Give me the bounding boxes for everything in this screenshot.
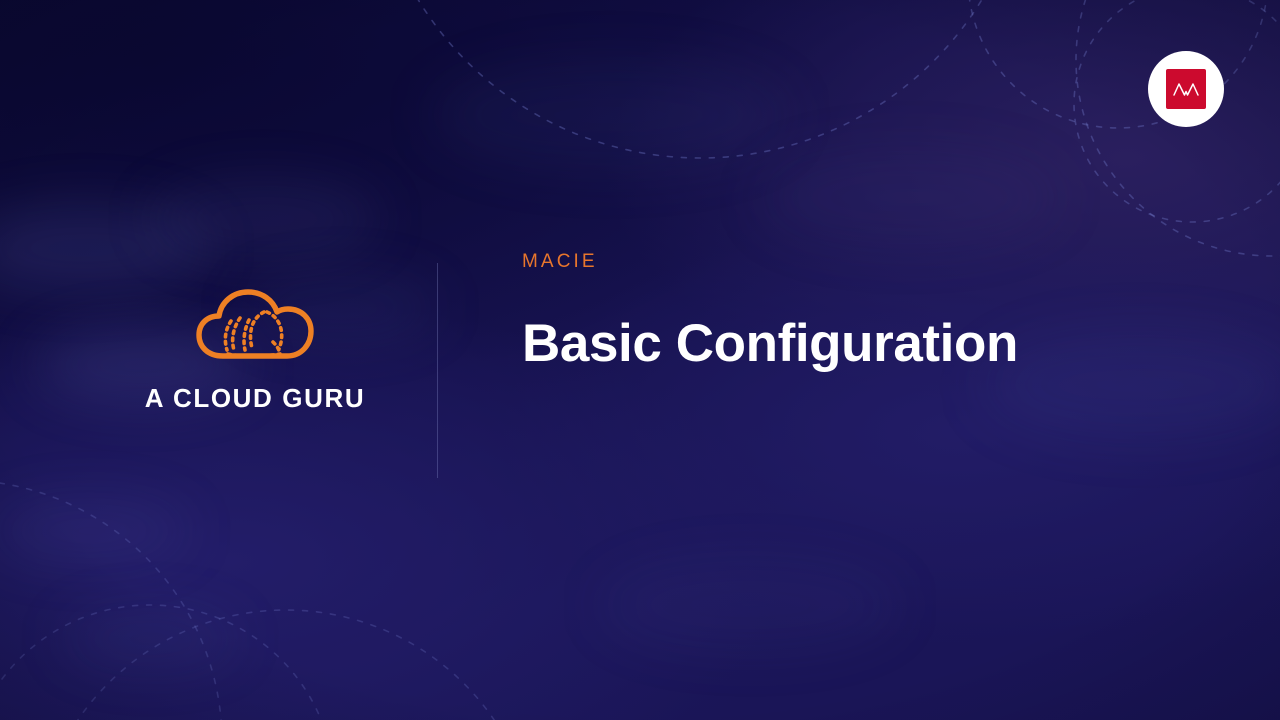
brand-block: A CLOUD GURU — [120, 286, 390, 411]
cloud-outline-icon — [195, 286, 315, 364]
acg-badge-square — [1166, 69, 1206, 109]
acg-badge — [1148, 51, 1224, 127]
vertical-divider — [437, 263, 438, 478]
acg-mountain-mark-icon — [1173, 81, 1199, 97]
course-eyebrow-label: MACIE — [522, 252, 1162, 271]
brand-name: A CLOUD GURU — [120, 385, 390, 411]
title-slide: A CLOUD GURU MACIE Basic Configuration — [0, 0, 1280, 720]
page-title: Basic Configuration — [522, 316, 1162, 372]
title-block: MACIE Basic Configuration — [522, 252, 1162, 372]
